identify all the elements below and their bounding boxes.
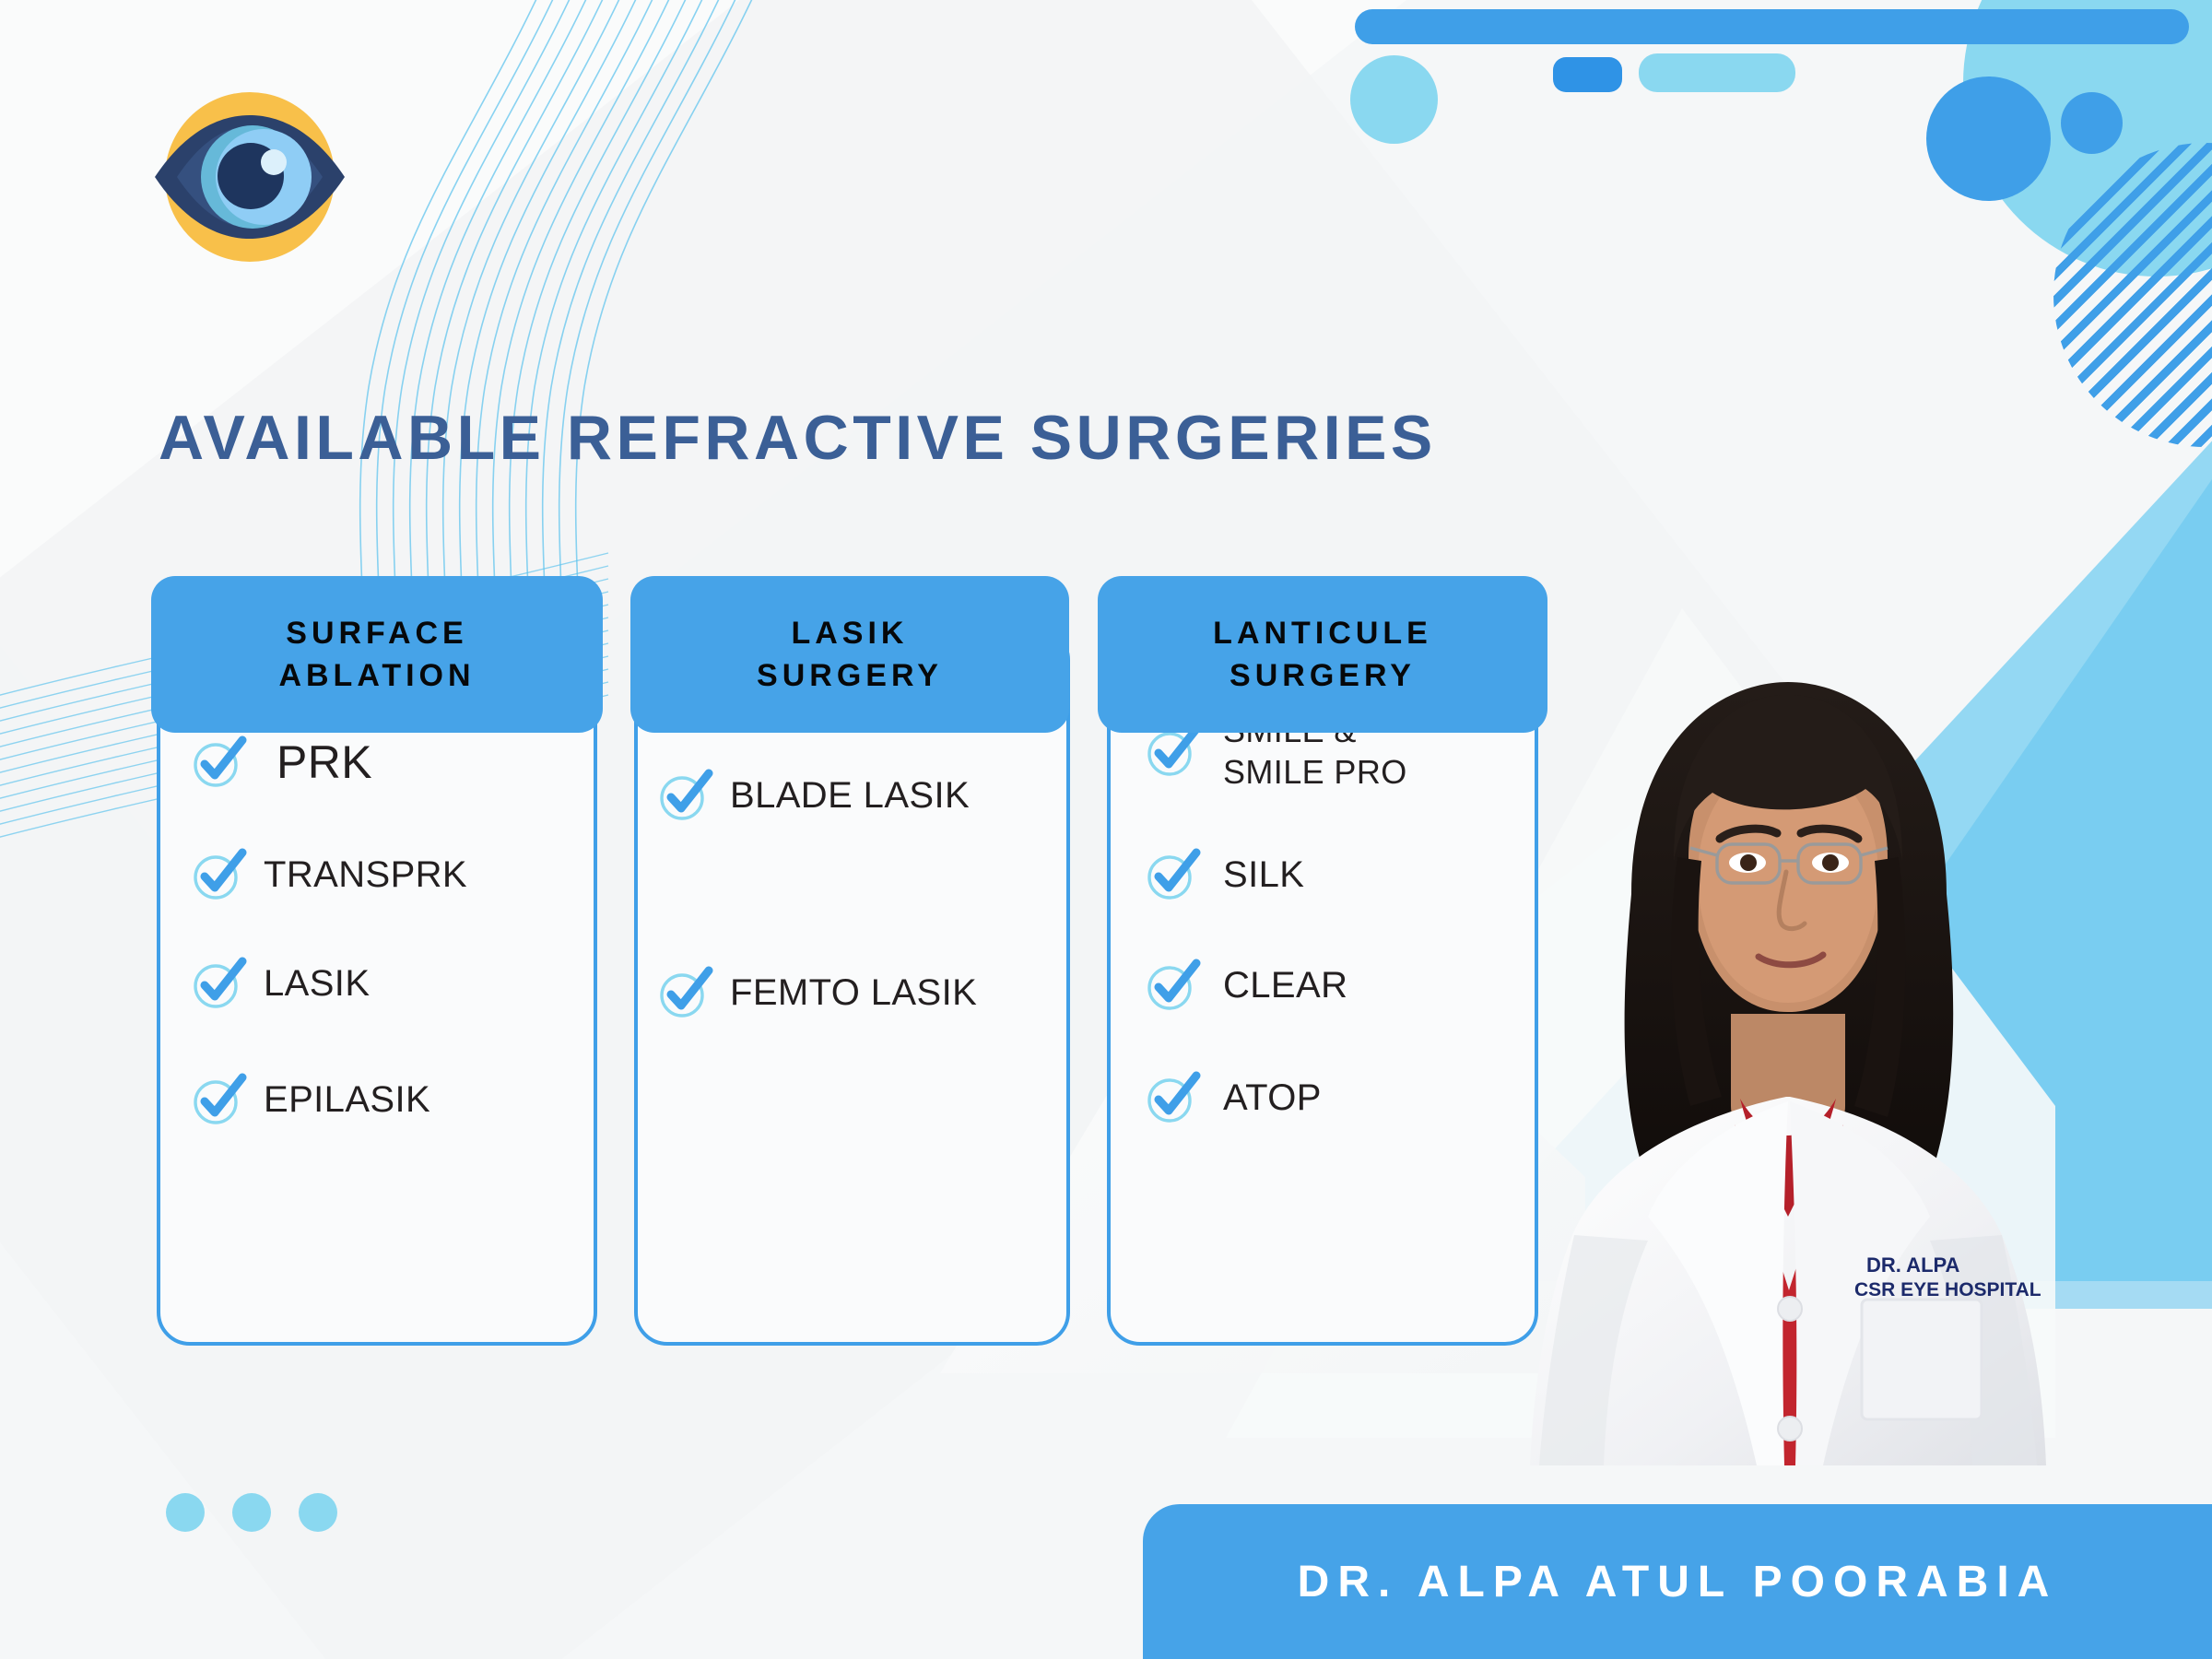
list-item[interactable]: FEMTO LASIK — [656, 964, 977, 1021]
decor-dot — [166, 1493, 205, 1532]
decor-circle-blue-large — [1926, 76, 2051, 201]
slide-canvas: AVAILABLE REFRACTIVE SURGERIES SURFACE A… — [0, 0, 2212, 1659]
list-item-label: CLEAR — [1223, 965, 1347, 1006]
doctor-portrait: DR. ALPA CSR EYE HOSPITAL — [1493, 664, 2083, 1465]
decor-dots — [166, 1493, 337, 1532]
list-item[interactable]: SILK — [1144, 846, 1304, 903]
eye-logo-icon — [153, 80, 347, 274]
list-item[interactable]: BLADE LASIK — [656, 767, 970, 824]
list-item[interactable]: EPILASIK — [190, 1071, 430, 1128]
check-circle-icon — [190, 955, 247, 1012]
coat-embroidery-line1: DR. ALPA — [1866, 1253, 1960, 1277]
list-item-label: ATOP — [1223, 1077, 1322, 1119]
decor-dot — [299, 1493, 337, 1532]
list-item-label: EPILASIK — [264, 1079, 430, 1121]
decor-pill-light — [1639, 53, 1795, 92]
check-circle-icon — [1144, 846, 1201, 903]
card-header-surface-ablation: SURFACE ABLATION — [151, 576, 603, 733]
check-circle-icon — [1144, 957, 1201, 1014]
doctor-name-label: DR. ALPA ATUL POORABIA — [1298, 1557, 2058, 1607]
check-circle-icon — [190, 1071, 247, 1128]
check-circle-icon — [190, 846, 247, 903]
list-item-label: BLADE LASIK — [730, 775, 970, 817]
check-circle-icon — [1144, 1069, 1201, 1126]
coat-embroidery-line2: CSR EYE HOSPITAL — [1854, 1279, 2041, 1300]
decor-circle-blue-small — [2061, 92, 2123, 154]
list-item[interactable]: ATOP — [1144, 1069, 1322, 1126]
list-item-label: TRANSPRK — [264, 854, 467, 896]
doctor-name-banner: DR. ALPA ATUL POORABIA — [1143, 1504, 2212, 1659]
list-item[interactable]: LASIK — [190, 955, 370, 1012]
list-item[interactable]: PRK — [190, 734, 372, 791]
list-item-label: FEMTO LASIK — [730, 972, 977, 1014]
decor-bar — [1355, 9, 2189, 44]
check-circle-icon — [656, 767, 713, 824]
list-item[interactable]: CLEAR — [1144, 957, 1347, 1014]
list-item-label: PRK — [276, 736, 372, 788]
decor-dot — [232, 1493, 271, 1532]
list-item-label: SILK — [1223, 854, 1304, 896]
page-title: AVAILABLE REFRACTIVE SURGERIES — [159, 402, 1437, 474]
card-header-lasik-surgery: LASIK SURGERY — [630, 576, 1069, 733]
decor-circle-light — [1350, 55, 1438, 144]
decor-pill-dark — [1553, 57, 1622, 92]
list-item-label: LASIK — [264, 963, 370, 1005]
list-item[interactable]: TRANSPRK — [190, 846, 467, 903]
check-circle-icon — [190, 734, 247, 791]
card-header-lanticule-surgery: LANTICULE SURGERY — [1098, 576, 1547, 733]
check-circle-icon — [656, 964, 713, 1021]
